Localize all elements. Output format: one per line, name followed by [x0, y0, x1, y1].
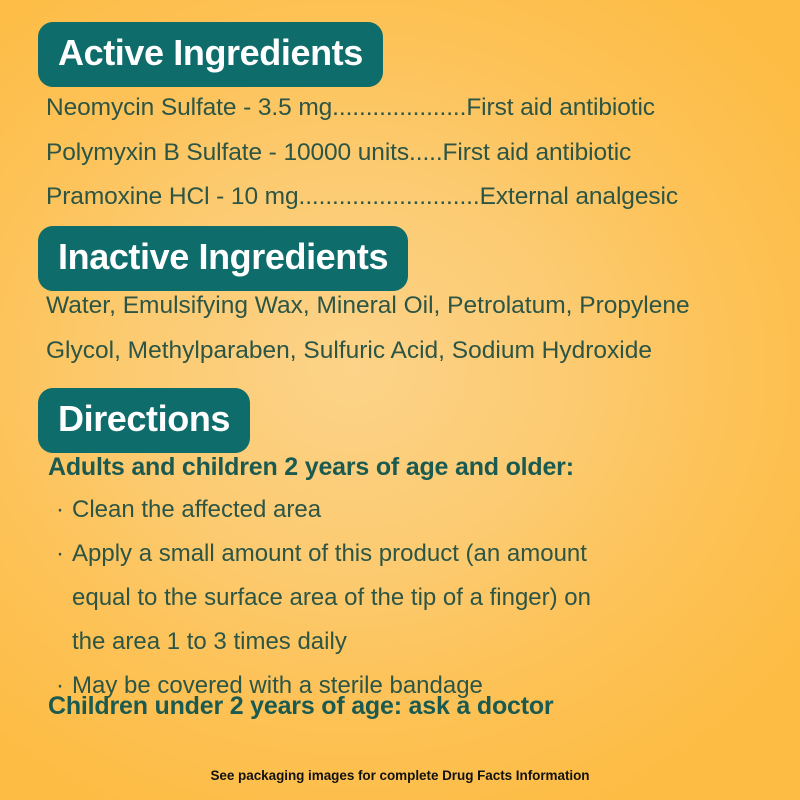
inactive-ingredients-badge: Inactive Ingredients	[38, 226, 408, 291]
inactive-ingredients-line: Glycol, Methylparaben, Sulfuric Acid, So…	[46, 339, 690, 364]
active-ingredient-row: Neomycin Sulfate - 3.5 mg...............…	[46, 96, 678, 121]
drug-facts-panel: Active Ingredients Neomycin Sulfate - 3.…	[0, 0, 800, 800]
inactive-ingredients-text: Water, Emulsifying Wax, Mineral Oil, Pet…	[0, 294, 710, 363]
active-ingredients-list: Neomycin Sulfate - 3.5 mg...............…	[0, 96, 678, 210]
inactive-ingredients-line: Water, Emulsifying Wax, Mineral Oil, Pet…	[46, 294, 690, 319]
bullet-dot-icon: ·	[56, 498, 64, 522]
directions-heading: Adults and children 2 years of age and o…	[0, 455, 574, 480]
list-item-text: Clean the affected area	[72, 498, 321, 522]
directions-badge-wrap: Directions	[0, 388, 250, 453]
active-ingredient-row: Polymyxin B Sulfate - 10000 units.....Fi…	[46, 141, 678, 166]
footer-note: See packaging images for complete Drug F…	[0, 768, 800, 783]
directions-badge: Directions	[38, 388, 250, 453]
active-ingredient-row: Pramoxine HCl - 10 mg...................…	[46, 185, 678, 210]
list-item-text: Apply a small amount of this product (an…	[72, 542, 591, 654]
bullet-dot-icon: ·	[56, 542, 64, 654]
list-item: · Apply a small amount of this product (…	[56, 542, 591, 654]
directions-closing-note: Children under 2 years of age: ask a doc…	[0, 694, 553, 719]
directions-bullet-list: · Clean the affected area · Apply a smal…	[0, 498, 591, 698]
inactive-ingredients-badge-wrap: Inactive Ingredients	[0, 226, 408, 291]
list-item: · Clean the affected area	[56, 498, 591, 522]
active-ingredients-badge: Active Ingredients	[38, 22, 383, 87]
active-ingredients-badge-wrap: Active Ingredients	[0, 22, 383, 87]
